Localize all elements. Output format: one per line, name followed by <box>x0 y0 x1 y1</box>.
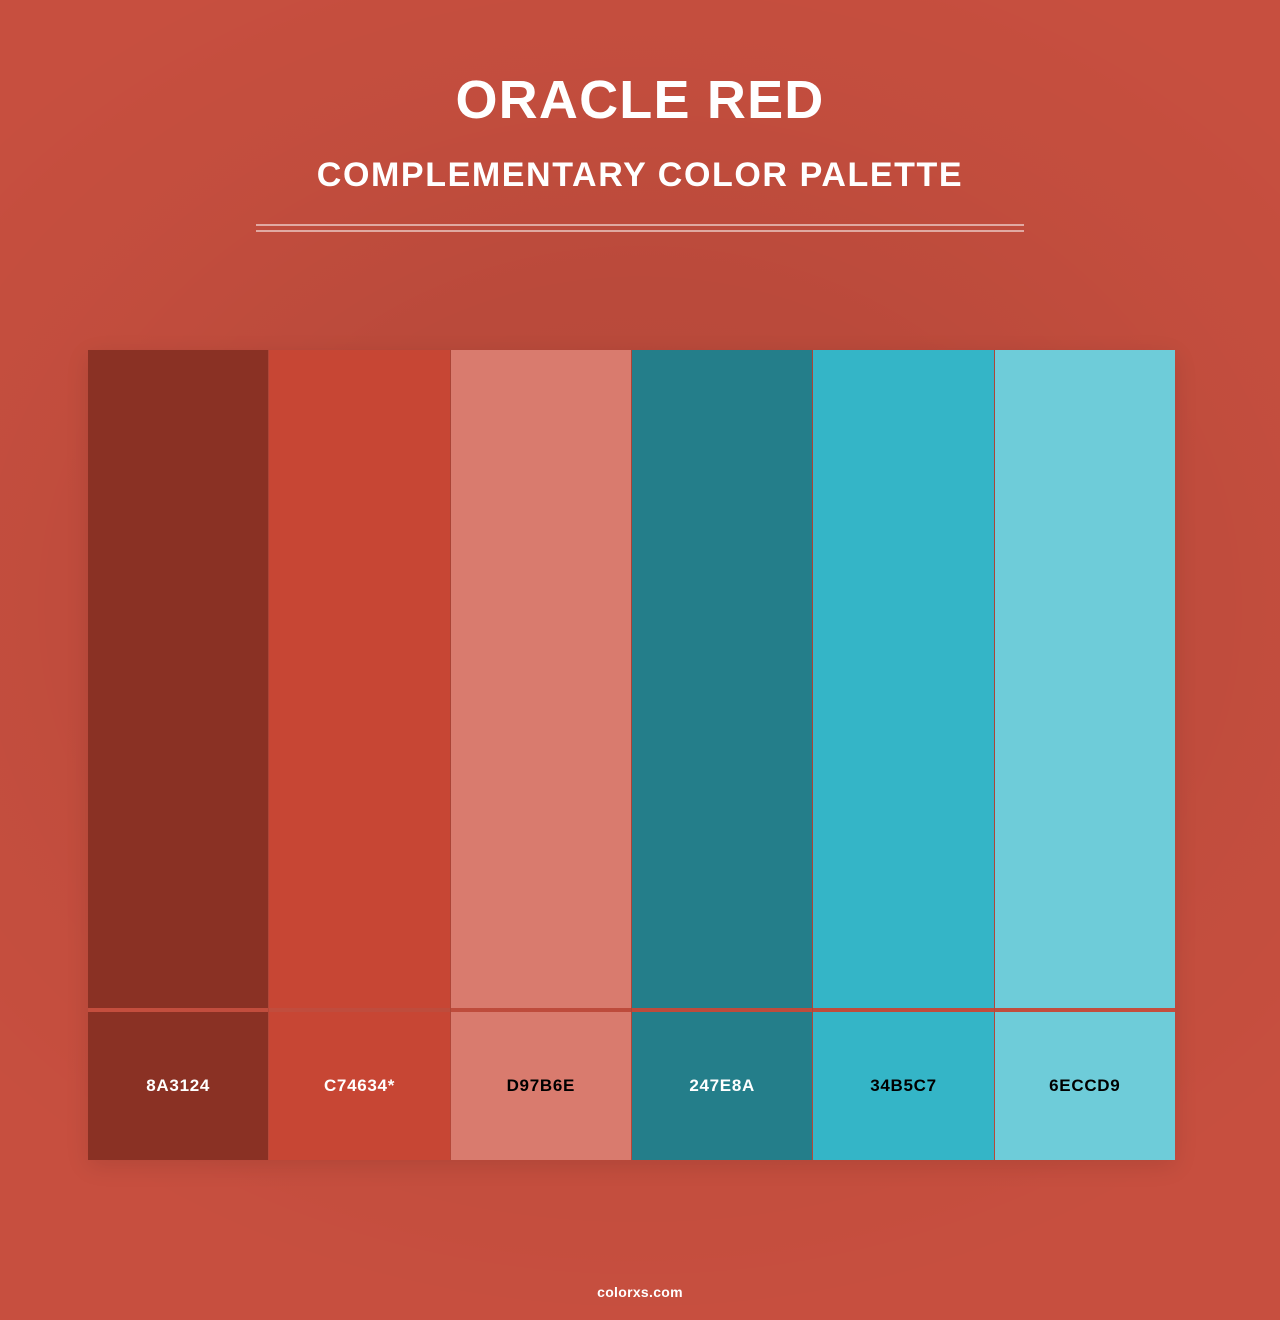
swatch-color-area[interactable] <box>632 350 812 1008</box>
color-palette-block: 8A3124C74634*D97B6E247E8A34B5C76ECCD9 <box>88 350 1175 1160</box>
swatch-label-area[interactable]: 247E8A <box>632 1012 812 1160</box>
swatch-column[interactable]: C74634* <box>269 350 450 1160</box>
header-divider <box>256 224 1024 234</box>
swatch-color-area[interactable] <box>995 350 1175 1008</box>
swatch-label-area[interactable]: D97B6E <box>451 1012 631 1160</box>
swatch-column[interactable]: 6ECCD9 <box>995 350 1175 1160</box>
page-title: ORACLE RED <box>0 72 1280 129</box>
divider-line-bottom <box>256 230 1024 232</box>
swatch-hex-label: D97B6E <box>507 1076 575 1096</box>
swatch-label-area[interactable]: 6ECCD9 <box>995 1012 1175 1160</box>
swatch-column[interactable]: 247E8A <box>632 350 813 1160</box>
swatch-color-area[interactable] <box>451 350 631 1008</box>
swatch-color-area[interactable] <box>269 350 449 1008</box>
swatch-label-area[interactable]: 34B5C7 <box>813 1012 993 1160</box>
swatch-color-area[interactable] <box>88 350 268 1008</box>
swatch-hex-label: 8A3124 <box>146 1076 210 1096</box>
palette-page: ORACLE RED COMPLEMENTARY COLOR PALETTE 8… <box>0 0 1280 1320</box>
page-footer: colorxs.com <box>0 1284 1280 1302</box>
page-subtitle: COMPLEMENTARY COLOR PALETTE <box>0 157 1280 194</box>
swatch-column[interactable]: 8A3124 <box>88 350 269 1160</box>
swatch-hex-label: C74634* <box>324 1076 395 1096</box>
page-header: ORACLE RED COMPLEMENTARY COLOR PALETTE <box>0 0 1280 234</box>
divider-line-top <box>256 224 1024 226</box>
swatch-hex-label: 34B5C7 <box>870 1076 937 1096</box>
swatch-label-area[interactable]: 8A3124 <box>88 1012 268 1160</box>
swatch-column[interactable]: D97B6E <box>451 350 632 1160</box>
footer-site-label: colorxs.com <box>597 1284 683 1300</box>
swatch-color-area[interactable] <box>813 350 993 1008</box>
swatch-column[interactable]: 34B5C7 <box>813 350 994 1160</box>
swatch-hex-label: 247E8A <box>689 1076 755 1096</box>
swatch-hex-label: 6ECCD9 <box>1049 1076 1120 1096</box>
swatch-label-area[interactable]: C74634* <box>269 1012 449 1160</box>
